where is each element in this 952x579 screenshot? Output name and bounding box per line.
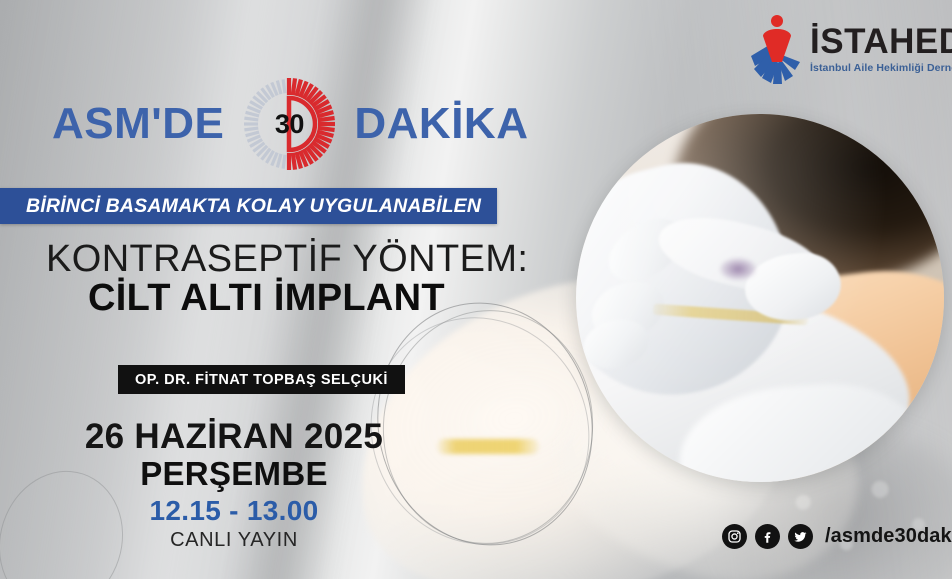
istahed-logo: İSTAHED İstanbul Aile Hekimliği Derneği	[748, 14, 952, 92]
instagram-icon[interactable]	[722, 524, 747, 549]
program-wordmark: ASM'DE	[52, 78, 528, 170]
wordmark-left-text: ASM'DE	[52, 102, 224, 146]
event-time: 12.15 - 13.00	[24, 496, 444, 527]
facebook-icon[interactable]	[755, 524, 780, 549]
webinar-poster: İSTAHED İstanbul Aile Hekimliği Derneği …	[0, 0, 952, 579]
speaker-name: OP. DR. FİTNAT TOPBAŞ SELÇUKİ	[135, 372, 388, 388]
surgical-photo-circle	[576, 114, 944, 482]
twitter-icon[interactable]	[788, 524, 813, 549]
title-line-1: KONTRASEPTİF YÖNTEM:	[46, 238, 528, 281]
event-broadcast-label: CANLI YAYIN	[24, 529, 444, 551]
subtitle-band-text: BİRİNCİ BASAMAKTA KOLAY UYGULANABİLEN	[26, 195, 481, 218]
istahed-figure-burst-icon	[748, 14, 806, 88]
social-handle[interactable]: /asmde30dakika	[825, 525, 952, 548]
surgical-photo-content	[576, 114, 944, 482]
event-date: 26 HAZİRAN 2025	[24, 418, 444, 455]
istahed-subtitle: İstanbul Aile Hekimliği Derneği	[810, 62, 952, 74]
istahed-logo-text: İSTAHED İstanbul Aile Hekimliği Derneği	[810, 14, 952, 74]
subtitle-band: BİRİNCİ BASAMAKTA KOLAY UYGULANABİLEN	[0, 188, 497, 224]
title-line-2: CİLT ALTI İMPLANT	[88, 277, 445, 320]
event-day: PERŞEMBE	[24, 457, 444, 492]
timer-number: 30	[241, 76, 337, 172]
event-details: 26 HAZİRAN 2025 PERŞEMBE 12.15 - 13.00 C…	[24, 418, 444, 551]
photo-highlight	[576, 114, 944, 482]
istahed-name: İSTAHED	[810, 24, 952, 59]
countdown-timer-icon: 30	[241, 76, 337, 172]
wordmark-right-text: DAKİKA	[354, 102, 528, 146]
speaker-chip: OP. DR. FİTNAT TOPBAŞ SELÇUKİ	[118, 365, 405, 394]
social-footer: /asmde30dakika	[722, 524, 952, 549]
